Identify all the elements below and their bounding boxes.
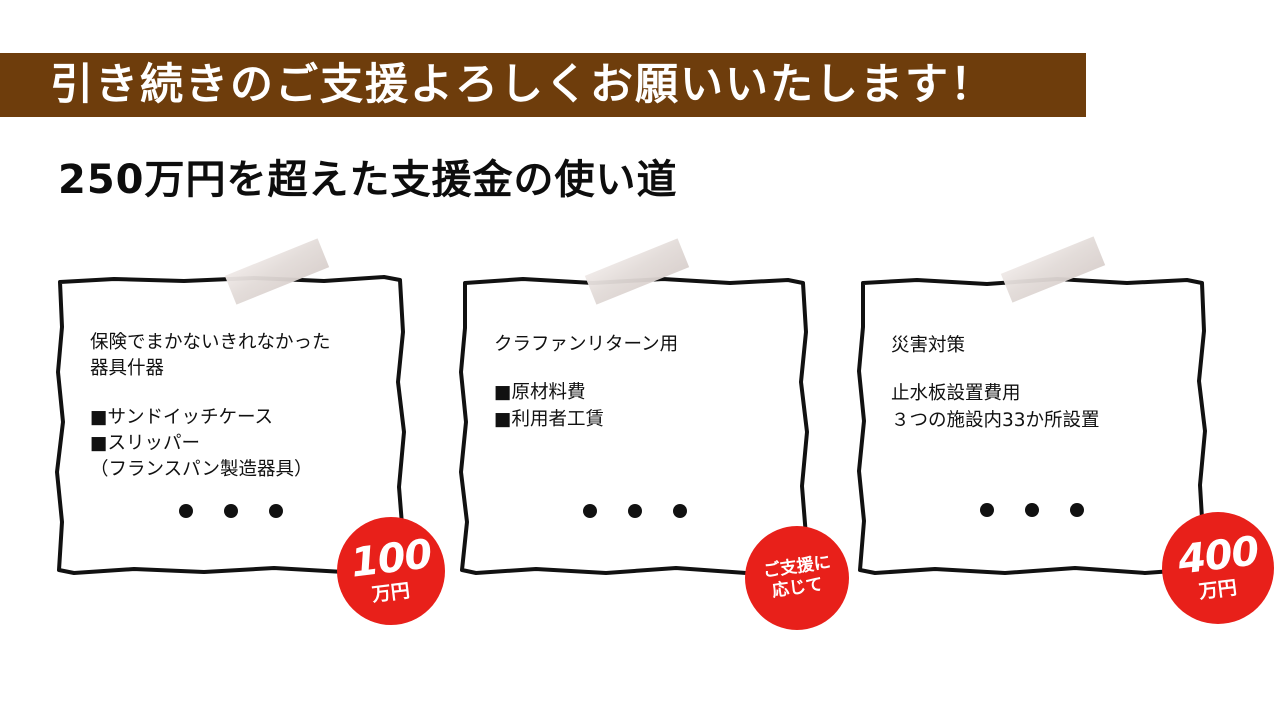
badge-amount-value: 400	[1176, 531, 1261, 581]
badge-text-support: ご支援に 応じて	[745, 526, 849, 630]
badge-amount-value: 100	[349, 534, 434, 584]
card-list-item: ３つの施設内33か所設置	[891, 408, 1193, 434]
badge-amount-unit: 万円	[371, 582, 411, 605]
card-heading: クラファンリターン用	[494, 332, 794, 358]
dot	[224, 504, 238, 518]
card-text-block: クラファンリターン用 ■原材料費 ■利用者工賃	[494, 332, 794, 433]
card-text-block: 災害対策 止水板設置費用 ３つの施設内33か所設置	[891, 333, 1193, 434]
card-insurance-equipment: 保険でまかないきれなかった 器具什器 ■サンドイッチケース ■スリッパー （フラ…	[54, 272, 406, 576]
page-title: 250万円を超えた支援金の使い道	[58, 158, 678, 202]
dot	[269, 504, 283, 518]
card-list-item: ■サンドイッチケース	[90, 405, 392, 431]
ellipsis-dots	[980, 503, 1084, 517]
card-crowdfunding-return: クラファンリターン用 ■原材料費 ■利用者工賃	[458, 274, 808, 576]
slide-canvas: 引き続きのご支援よろしくお願いいたします！ 250万円を超えた支援金の使い道 保…	[0, 0, 1280, 720]
card-list-item: 止水板設置費用	[891, 381, 1193, 407]
card-list-item: ■利用者工賃	[494, 407, 794, 433]
card-note: （フランスパン製造器具）	[90, 457, 392, 483]
header-banner: 引き続きのご支援よろしくお願いいたします！	[0, 53, 1086, 117]
card-text-block: 保険でまかないきれなかった 器具什器 ■サンドイッチケース ■スリッパー （フラ…	[90, 330, 392, 483]
dot	[673, 504, 687, 518]
badge-amount-unit: 万円	[1198, 579, 1238, 602]
badge-amount-400: 400 万円	[1162, 512, 1274, 624]
card-item-list: 止水板設置費用 ３つの施設内33か所設置	[891, 381, 1193, 434]
card-disaster-measures: 災害対策 止水板設置費用 ３つの施設内33か所設置	[855, 275, 1207, 576]
dot	[1025, 503, 1039, 517]
card-heading: 保険でまかないきれなかった 器具什器	[90, 330, 392, 383]
dot	[1070, 503, 1084, 517]
dot	[980, 503, 994, 517]
card-list-item: ■原材料費	[494, 380, 794, 406]
ellipsis-dots	[179, 504, 283, 518]
header-banner-text: 引き続きのご支援よろしくお願いいたします！	[50, 64, 995, 107]
card-heading: 災害対策	[891, 333, 1193, 359]
dot	[583, 504, 597, 518]
badge-amount-100: 100 万円	[337, 517, 445, 625]
dot	[628, 504, 642, 518]
card-item-list: ■原材料費 ■利用者工賃	[494, 380, 794, 433]
badge-line-2: 応じて	[771, 577, 824, 601]
dot	[179, 504, 193, 518]
ellipsis-dots	[583, 504, 687, 518]
card-item-list: ■サンドイッチケース ■スリッパー （フランスパン製造器具）	[90, 405, 392, 484]
card-list-item: ■スリッパー	[90, 431, 392, 457]
